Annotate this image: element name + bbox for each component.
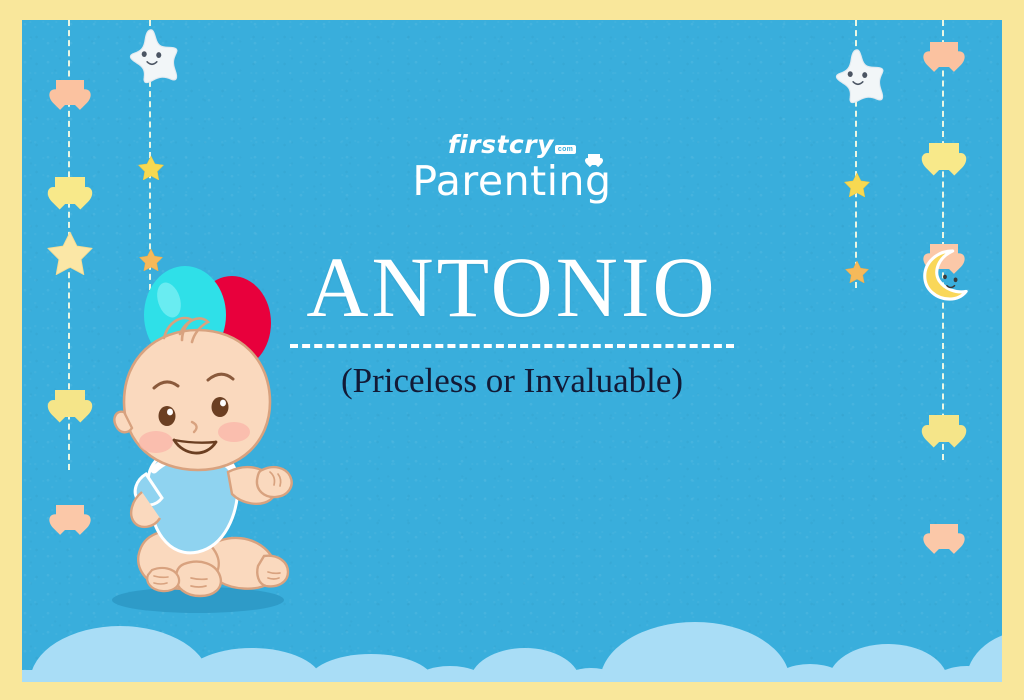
- cloud-puff: [308, 654, 434, 682]
- heart-charm-peach-right-3: [930, 524, 958, 549]
- cloud-puff: [828, 644, 948, 682]
- heart-charm-yellow: [55, 177, 85, 204]
- strand-left-inner: [149, 20, 152, 290]
- cloud-puff: [182, 648, 322, 682]
- star-charm-yellow: [47, 230, 93, 275]
- heart-charm-yellow-right: [929, 143, 959, 170]
- star-charm-orange-right: [845, 260, 869, 283]
- sky-panel: firstcrycom Parenting ANTONIO (Priceless…: [22, 20, 1002, 682]
- strand-right-inner: [855, 20, 858, 288]
- moon-charm: [918, 248, 970, 302]
- baby-illustration: [88, 260, 318, 620]
- moon-face-icon: [918, 248, 970, 302]
- strand-left-outer: [68, 20, 71, 470]
- cloud-puff: [774, 664, 846, 682]
- name-poster: firstcrycom Parenting ANTONIO (Priceless…: [0, 0, 1024, 700]
- heart-charm-peach-right: [930, 42, 958, 67]
- heart-charm-yellow-right-2: [929, 415, 959, 442]
- heart-icon: [588, 154, 600, 165]
- cloud-puff: [30, 626, 210, 682]
- cloud-puff: [470, 648, 580, 682]
- star-charm-white-face: [120, 26, 182, 88]
- heart-charm-peach: [56, 80, 84, 105]
- star-icon: [844, 172, 870, 197]
- cloud-puff: [414, 666, 486, 682]
- cloud-base: [22, 670, 1002, 682]
- heart-charm-peach-2: [56, 505, 84, 530]
- logo-parenting-text: Parenting: [412, 157, 611, 205]
- cloud-puff: [562, 668, 620, 682]
- star-face-icon: [120, 26, 182, 88]
- logo-parenting-row: Parenting: [412, 160, 611, 203]
- cord: [942, 20, 946, 460]
- strand-right-outer: [942, 20, 945, 460]
- star-face-icon: [826, 46, 888, 108]
- cloud-puff: [966, 630, 1002, 682]
- star-charm-small-yellow: [138, 155, 164, 180]
- star-icon: [47, 230, 93, 275]
- logo-badge: com: [555, 145, 576, 154]
- divider: [290, 344, 734, 348]
- cloud-puff: [934, 666, 1000, 682]
- baby-with-balloons-icon: [88, 260, 318, 620]
- star-icon: [845, 260, 869, 283]
- star-icon: [138, 155, 164, 180]
- heart-charm-yellow-2: [55, 390, 85, 417]
- logo-firstcry-text: firstcry: [448, 132, 554, 157]
- star-charm-yellow-right: [844, 172, 870, 197]
- baby-figure: [114, 318, 291, 596]
- cloud-puff: [600, 622, 790, 682]
- star-charm-white-face-right: [826, 46, 888, 108]
